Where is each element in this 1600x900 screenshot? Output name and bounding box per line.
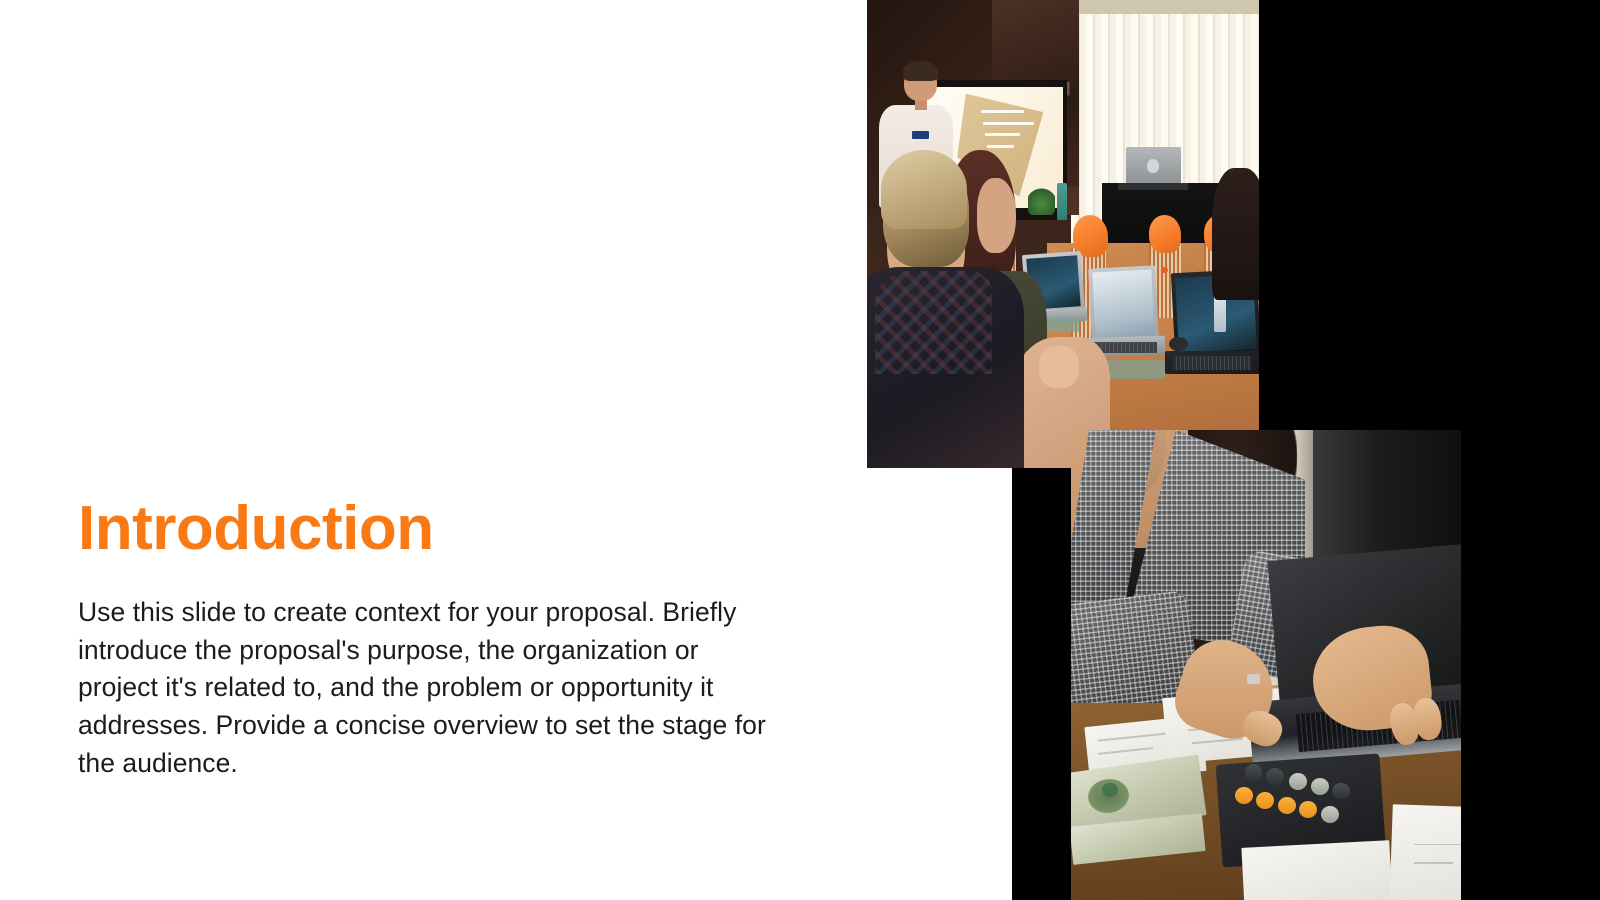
- laptop-base-back: [1118, 183, 1189, 190]
- attendee-laptop-screen: [1093, 270, 1155, 339]
- paper-line: [1414, 844, 1461, 846]
- paperwork-sheet: [1389, 804, 1461, 900]
- attendee-two-face: [977, 178, 1016, 253]
- gift-bag-tissue: [1149, 215, 1180, 252]
- screen-text-line: [985, 133, 1020, 136]
- calculator-key: [1245, 764, 1263, 781]
- presenter-name-badge: [912, 131, 928, 139]
- attendee-hand: [1039, 346, 1078, 388]
- slide-body-text: Use this slide to create context for you…: [78, 594, 784, 782]
- potted-plant: [1028, 187, 1055, 215]
- dollar-bill-seal: [1102, 783, 1118, 797]
- apple-logo-icon: [1147, 159, 1159, 173]
- water-bottle-teal: [1057, 183, 1067, 220]
- finger-ring: [1247, 674, 1260, 683]
- paper-line: [1414, 862, 1453, 864]
- page-title: Introduction: [78, 498, 790, 560]
- water-bottle-clear: [1214, 295, 1227, 332]
- calculator-key: [1311, 778, 1329, 795]
- attendee-laptop-keyboard: [1173, 356, 1251, 370]
- paperwork-sheet: [1241, 840, 1392, 900]
- attendee-one-plaid-shirt: [875, 271, 993, 374]
- calculator-key: [1235, 787, 1253, 804]
- attendee-one-hair-highlight: [881, 150, 967, 230]
- screen-text-line: [987, 145, 1014, 148]
- text-block: Introduction Use this slide to create co…: [78, 498, 790, 782]
- attendee-far-right: [1212, 168, 1259, 299]
- window-valance: [1071, 0, 1259, 14]
- slide-canvas: RESTOR: [0, 0, 1600, 900]
- screen-text-line: [983, 122, 1034, 125]
- calculator-key: [1278, 797, 1296, 814]
- desk-finance-photo: [1071, 430, 1461, 900]
- presenter-hair: [903, 61, 938, 82]
- calculator-key: [1256, 792, 1274, 809]
- meeting-room-photo: RESTOR: [867, 0, 1259, 468]
- screen-text-line: [981, 110, 1024, 113]
- calculator-key: [1321, 806, 1339, 823]
